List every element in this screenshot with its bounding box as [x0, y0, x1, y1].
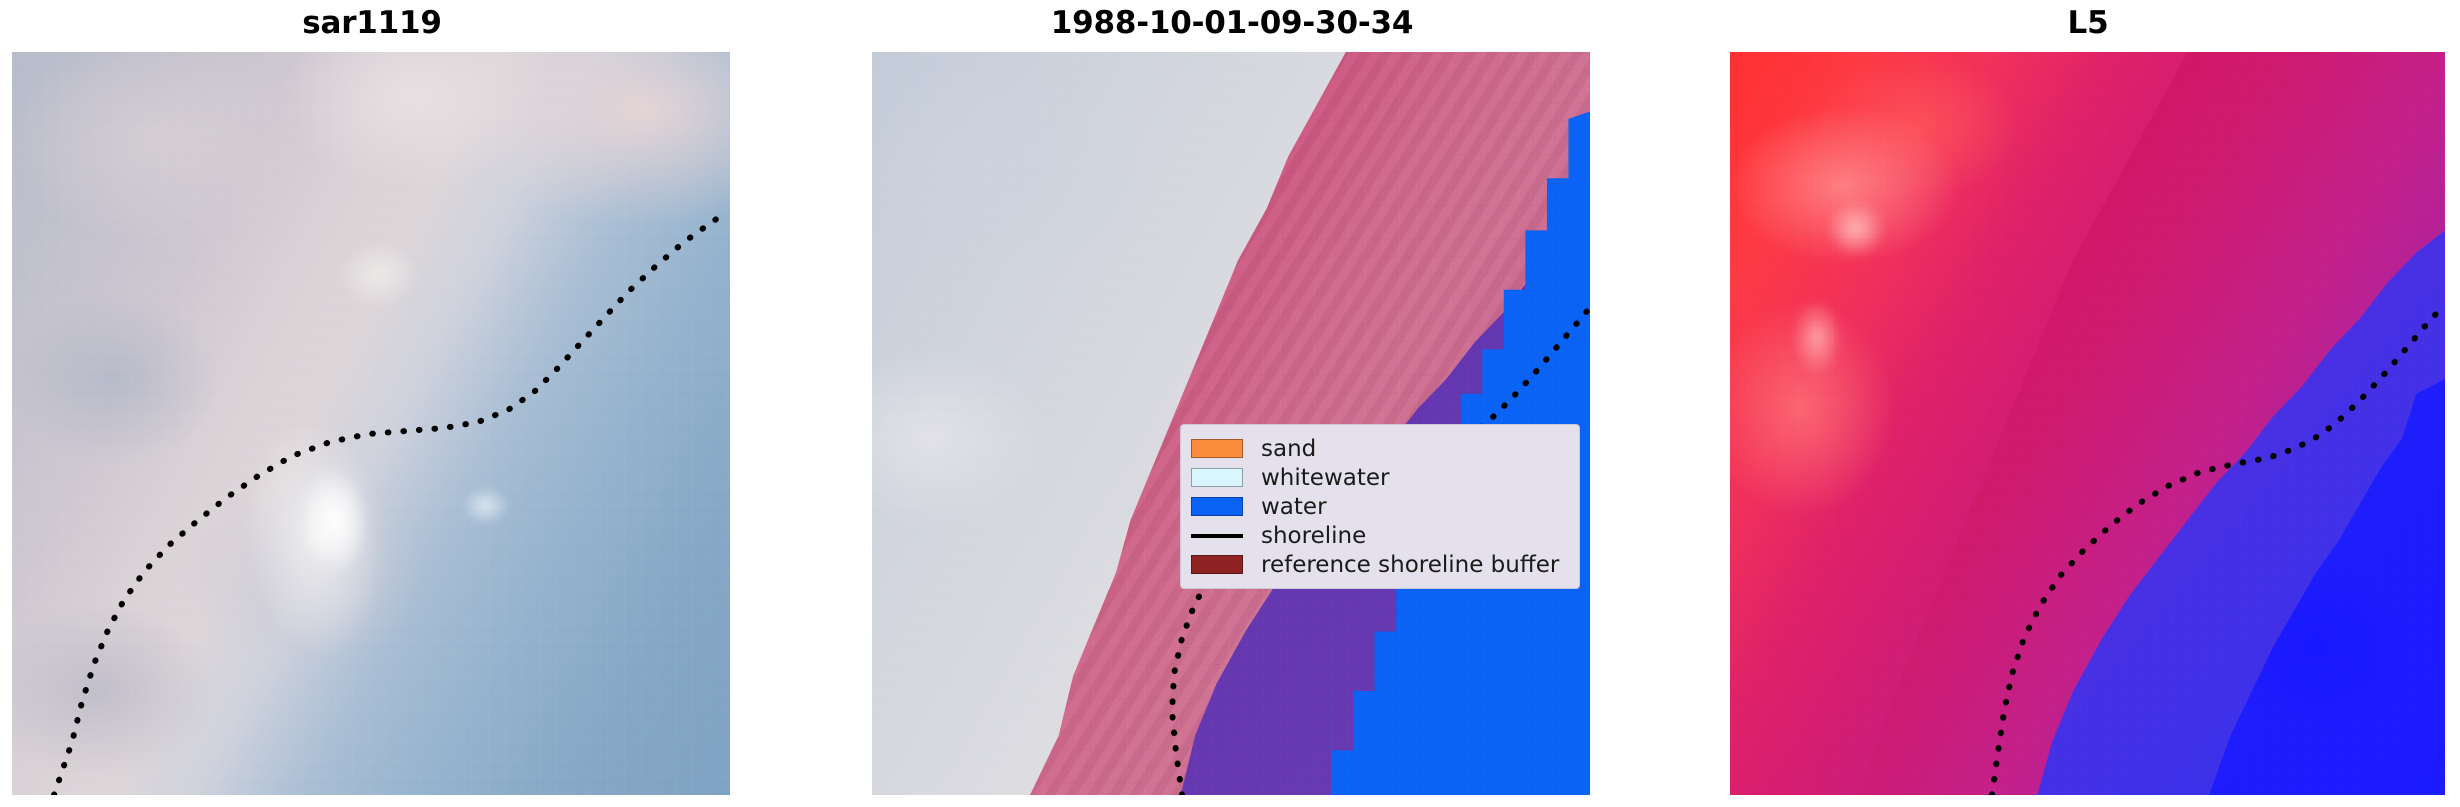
- legend-item-whitewater[interactable]: whitewater: [1191, 463, 1567, 492]
- panel-sar1119: sar1119: [0, 0, 744, 807]
- panel-title-1: sar1119: [0, 6, 744, 40]
- figure-canvas: sar1119 1988-10-01-09-30-34: [0, 0, 2460, 807]
- water-swatch: [1191, 497, 1243, 516]
- panel-title-3: L5: [1716, 6, 2460, 40]
- legend-label-reference-shoreline-buffer: reference shoreline buffer: [1261, 552, 1559, 578]
- legend-label-sand: sand: [1261, 436, 1316, 462]
- shoreline-overlay-3: [1730, 52, 2445, 795]
- legend-item-sand[interactable]: sand: [1191, 434, 1567, 463]
- panel-title-2: 1988-10-01-09-30-34: [860, 6, 1604, 40]
- legend-item-shoreline[interactable]: shoreline: [1191, 521, 1567, 550]
- shoreline-line-swatch: [1191, 526, 1243, 545]
- image-axes-3[interactable]: [1730, 52, 2445, 795]
- legend-box: sand whitewater water shoreline referenc…: [1180, 424, 1580, 589]
- shoreline-overlay-1: [12, 52, 730, 795]
- legend-label-whitewater: whitewater: [1261, 465, 1389, 491]
- whitewater-swatch: [1191, 468, 1243, 487]
- panel-classified: 1988-10-01-09-30-34 sand whitewater: [860, 0, 1604, 807]
- reference-shoreline-buffer-swatch: [1191, 555, 1243, 574]
- legend-label-shoreline: shoreline: [1261, 523, 1366, 549]
- panel-l5-index: L5: [1716, 0, 2460, 807]
- legend-item-water[interactable]: water: [1191, 492, 1567, 521]
- legend-item-reference-shoreline-buffer[interactable]: reference shoreline buffer: [1191, 550, 1567, 579]
- sand-swatch: [1191, 439, 1243, 458]
- legend-label-water: water: [1261, 494, 1327, 520]
- image-axes-1[interactable]: [12, 52, 730, 795]
- image-axes-2[interactable]: sand whitewater water shoreline referenc…: [872, 52, 1590, 795]
